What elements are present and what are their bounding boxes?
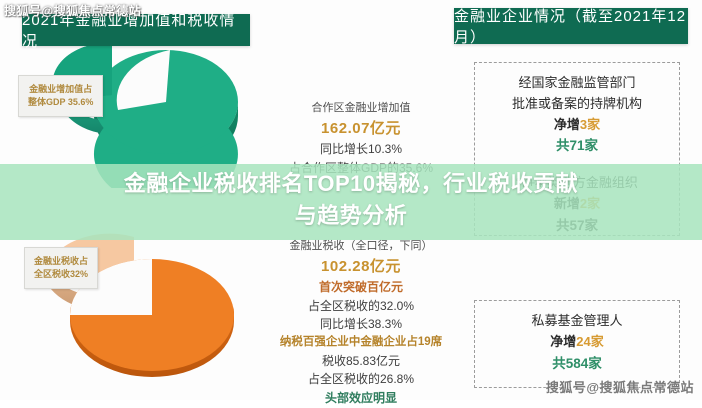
- callout-gdp-line1: 金融业增加值占: [28, 83, 93, 96]
- private-fund-total-prefix: 共: [552, 356, 566, 371]
- infographic-canvas: 金融业增加值占 整体GDP 35.6% 金融业: [0, 0, 702, 400]
- added-value-growth: 同比增长10.3%: [255, 140, 467, 159]
- private-fund-increase: 净增24家: [475, 332, 679, 353]
- tax-milestone: 首次突破百亿元: [255, 278, 467, 297]
- callout-tax-share: 金融业税收占 全区税收32%: [24, 247, 98, 289]
- callout-gdp-share: 金融业增加值占 整体GDP 35.6%: [18, 75, 103, 117]
- tax-amount: 102.28亿元: [255, 255, 467, 278]
- licensed-title-line1: 经国家金融监管部门: [475, 73, 679, 94]
- callout-tax-line2: 全区税收32%: [34, 268, 88, 281]
- private-fund-title: 私募基金管理人: [475, 311, 679, 332]
- watermark-top: 搜狐号@搜狐焦点常德站: [4, 2, 141, 19]
- licensed-increase: 净增3家: [475, 115, 679, 136]
- added-value-label: 合作区金融业增加值: [255, 100, 467, 117]
- tax-growth: 同比增长38.3%: [255, 315, 467, 334]
- licensed-total: 共71家: [475, 135, 679, 157]
- tax-top100-amount: 税收85.83亿元: [255, 352, 467, 371]
- private-fund-group: 私募基金管理人 净增24家 共584家: [475, 301, 679, 374]
- watermark-bottom: 搜狐号@搜狐焦点常德站: [546, 377, 694, 396]
- private-fund-total: 共584家: [475, 353, 679, 375]
- private-fund-total-num: 584: [566, 356, 589, 371]
- licensed-total-unit: 家: [585, 138, 599, 153]
- callout-gdp-line2: 整体GDP 35.6%: [28, 96, 93, 109]
- private-fund-increase-prefix: 净增: [550, 334, 576, 349]
- tax-share: 占全区税收的32.0%: [255, 297, 467, 316]
- added-value-amount: 162.07亿元: [255, 117, 467, 140]
- overlay-banner-title: 金融企业税收排名TOP10揭秘，行业税收贡献 与趋势分析: [0, 168, 702, 232]
- private-fund-total-unit: 家: [588, 356, 602, 371]
- callout-tax-line1: 金融业税收占: [34, 255, 88, 268]
- licensed-increase-unit: 家: [587, 117, 600, 132]
- tax-top100-share: 占全区税收的26.8%: [255, 370, 467, 389]
- licensed-total-prefix: 共: [556, 138, 570, 153]
- dashed-box-private-fund: 私募基金管理人 净增24家 共584家: [474, 300, 680, 388]
- header-right-label: 金融业企业情况（截至2021年12月）: [454, 5, 688, 47]
- private-fund-increase-num: 24: [576, 334, 590, 349]
- header-right: 金融业企业情况（截至2021年12月）: [454, 8, 688, 44]
- overlay-banner-line1: 金融企业税收排名TOP10揭秘，行业税收贡献: [124, 171, 578, 196]
- licensed-increase-prefix: 净增: [554, 117, 580, 132]
- tax-text-block: 金融业税收（全口径，下同） 102.28亿元 首次突破百亿元 占全区税收的32.…: [255, 238, 467, 408]
- licensed-group: 经国家金融监管部门 批准或备案的持牌机构 净增3家 共71家: [475, 63, 679, 157]
- licensed-total-num: 71: [569, 138, 584, 153]
- tax-label: 金融业税收（全口径，下同）: [255, 238, 467, 255]
- private-fund-increase-unit: 家: [591, 334, 604, 349]
- tax-top100: 纳税百强企业中金融企业占19席: [255, 334, 467, 352]
- tax-note: 头部效应明显: [255, 389, 467, 408]
- licensed-title-line2: 批准或备案的持牌机构: [475, 94, 679, 115]
- overlay-banner-line2: 与趋势分析: [0, 200, 702, 232]
